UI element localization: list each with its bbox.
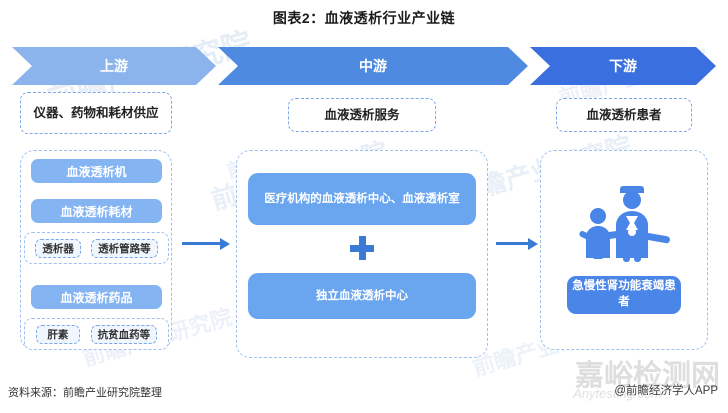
banner-label-downstream: 下游 [609,56,637,76]
banner-label-midstream: 中游 [359,56,387,76]
plus-icon [350,236,374,260]
arrow-head [220,238,230,250]
banner-segment-upstream[interactable]: 上游 [12,47,216,85]
upstream-sub-dialyzer[interactable]: 透析器 [35,239,81,258]
upstream-block-machine[interactable]: 血液透析机 [31,159,162,183]
upstream-caption: 仪器、药物和耗材供应 [20,92,172,134]
downstream-caption: 血液透析患者 [556,98,692,132]
upstream-block-drugs[interactable]: 血液透析药品 [31,285,162,309]
banner-segment-midstream[interactable]: 中游 [218,47,528,85]
upstream-block-consumables[interactable]: 血液透析耗材 [31,199,162,223]
midstream-caption: 血液透析服务 [288,98,436,132]
midstream-box-independent-center[interactable]: 独立血液透析中心 [248,273,476,319]
upstream-subgroup-drugs: 肝素 抗贫血药等 [24,318,169,350]
stage-banner: 上游 中游 下游 [12,47,716,85]
chart-title: 图表2：血液透析行业产业链 [0,8,728,28]
chart-canvas: 前瞻产业研究院 前瞻产业研究院 前瞻产业研究院 前瞻产业研究院 前瞻产业研究院 … [0,0,728,413]
upstream-sub-tubing[interactable]: 透析管路等 [91,239,158,258]
source-note: 资料来源：前瞻产业研究院整理 [8,384,162,400]
arrow-shaft [182,242,220,245]
arrow-right-icon [496,238,538,250]
upstream-sub-anemia-drug[interactable]: 抗贫血药等 [91,325,158,344]
midstream-box-hospital-center[interactable]: 医疗机构的血液透析中心、血液透析室 [248,173,476,225]
arrow-right-icon [182,238,230,250]
banner-label-upstream: 上游 [100,56,128,76]
doctor-patient-icon [571,182,677,264]
upstream-sub-heparin[interactable]: 肝素 [36,325,80,344]
downstream-box-patients[interactable]: 急慢性肾功能衰竭患者 [567,276,681,314]
upstream-subgroup-consumables: 透析器 透析管路等 [24,232,169,264]
attribution-label: @前瞻经济学人APP [614,382,718,398]
arrow-head [528,238,538,250]
banner-segment-downstream[interactable]: 下游 [530,47,716,85]
arrow-shaft [496,242,528,245]
